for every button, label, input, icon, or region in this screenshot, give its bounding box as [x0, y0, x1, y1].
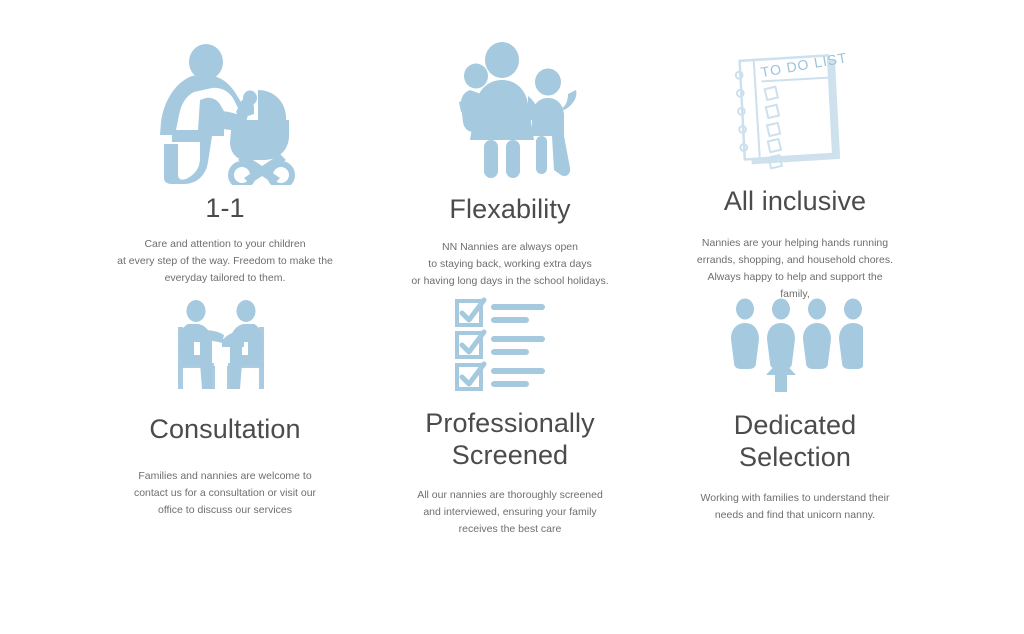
feature-title: All inclusive [724, 186, 866, 218]
feature-card-dedicated-selection: Dedicated Selection Working with familie… [650, 292, 940, 524]
feature-title: Professionally Screened [405, 408, 615, 472]
nanny-with-children-icon [365, 40, 655, 180]
feature-title: Dedicated Selection [695, 410, 895, 474]
two-people-seated-meeting-icon [80, 292, 370, 392]
feature-card-professionally-screened: Professionally Screened All our nannies … [365, 292, 655, 538]
feature-card-one-to-one: 1-1 Care and attention to your children … [80, 40, 370, 287]
feature-body: Families and nannies are welcome to cont… [125, 468, 325, 519]
people-row-with-arrow-icon [650, 292, 940, 392]
feature-title: Consultation [149, 414, 300, 446]
feature-title: 1-1 [205, 193, 244, 225]
feature-body: Working with families to understand thei… [688, 490, 903, 524]
checklist-icon [365, 292, 655, 392]
feature-card-all-inclusive: TO DO LIST All inclusive Nannies are you… [650, 40, 940, 303]
feature-body: Care and attention to your children at e… [100, 236, 350, 287]
feature-body: All our nannies are thoroughly screened … [403, 487, 618, 538]
todo-list-notepad-icon: TO DO LIST [650, 40, 940, 180]
nanny-with-pram-icon [80, 40, 370, 185]
feature-card-flexability: Flexability NN Nannies are always open t… [365, 40, 655, 290]
feature-card-consultation: Consultation Families and nannies are we… [80, 292, 370, 519]
feature-title: Flexability [449, 194, 570, 226]
feature-body: NN Nannies are always open to staying ba… [380, 239, 640, 290]
features-grid: 1-1 Care and attention to your children … [0, 0, 1024, 634]
